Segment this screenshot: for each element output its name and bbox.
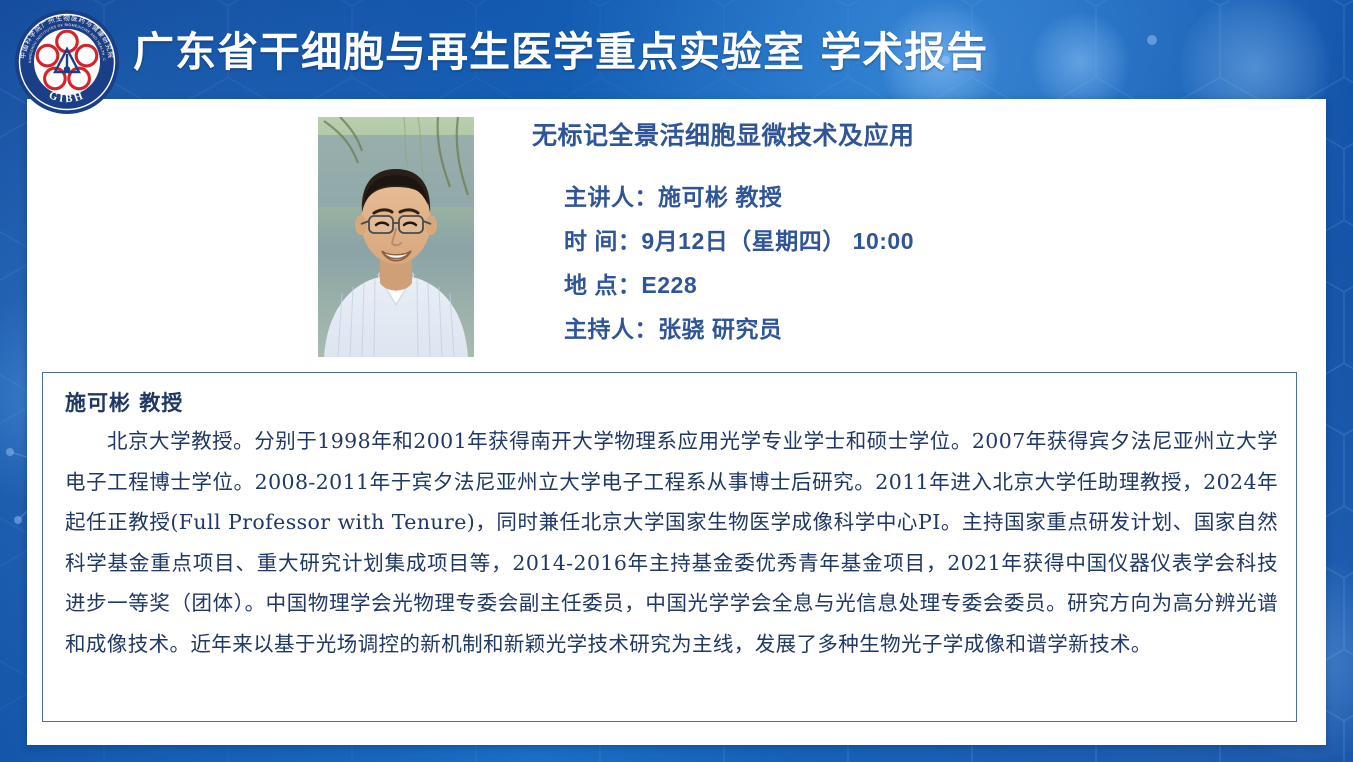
speaker-bio-box: 施可彬 教授 北京大学教授。分别于1998年和2001年获得南开大学物理系应用光… <box>42 372 1297 722</box>
talk-host-value: 张骁 研究员 <box>658 316 782 342</box>
talk-title: 无标记全景活细胞显微技术及应用 <box>532 119 1302 153</box>
talk-summary-section: 无标记全景活细胞显微技术及应用 主讲人：施可彬 教授 时 间：9月12日（星期四… <box>27 99 1326 371</box>
poster-header: 广东省干细胞与再生医学重点实验室 学术报告 <box>0 0 1353 100</box>
talk-time-value: 9月12日（星期四） 10:00 <box>641 228 914 254</box>
talk-time-label: 时 间： <box>564 228 641 254</box>
talk-host-label: 主持人： <box>564 316 658 342</box>
talk-host-row: 主持人：张骁 研究员 <box>532 307 1302 351</box>
talk-venue-value: E228 <box>641 272 697 298</box>
content-card: 无标记全景活细胞显微技术及应用 主讲人：施可彬 教授 时 间：9月12日（星期四… <box>27 99 1326 745</box>
bio-speaker-name: 施可彬 教授 <box>65 387 1278 419</box>
poster-page: 广东省干细胞与再生医学重点实验室 学术报告 中国科学院广州生物医药与健康研究院 <box>0 0 1353 762</box>
talk-time-row: 时 间：9月12日（星期四） 10:00 <box>532 219 1302 263</box>
talk-speaker-row: 主讲人：施可彬 教授 <box>532 175 1302 219</box>
bio-paragraph: 北京大学教授。分别于1998年和2001年获得南开大学物理系应用光学专业学士和硕… <box>65 421 1278 664</box>
talk-venue-row: 地 点：E228 <box>532 263 1302 307</box>
talk-info-block: 无标记全景活细胞显微技术及应用 主讲人：施可彬 教授 时 间：9月12日（星期四… <box>532 119 1302 351</box>
institute-logo-icon: 中国科学院广州生物医药与健康研究院 GUANGZHOU INSTITUTES O… <box>13 8 121 116</box>
page-title: 广东省干细胞与再生医学重点实验室 学术报告 <box>133 26 988 78</box>
talk-speaker-value: 施可彬 教授 <box>658 184 782 210</box>
speaker-photo <box>318 117 474 357</box>
talk-venue-label: 地 点： <box>564 272 641 298</box>
talk-speaker-label: 主讲人： <box>564 184 658 210</box>
